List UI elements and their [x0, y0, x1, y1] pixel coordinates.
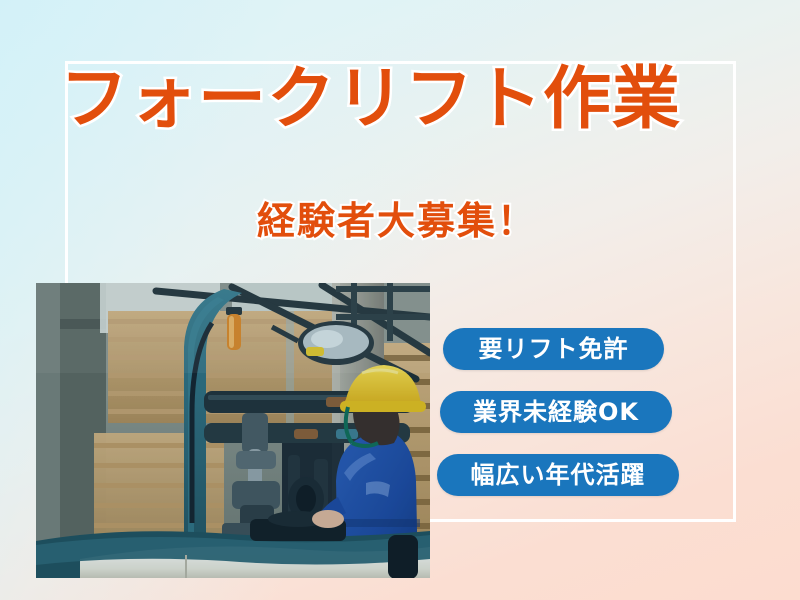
forklift-photo-illustration: [36, 283, 430, 578]
badge-wide-age-range: 幅広い年代活躍: [437, 454, 679, 496]
page-title: フォークリフト作業: [60, 62, 750, 138]
recruitment-banner: フォークリフト作業 経験者大募集！: [0, 0, 800, 600]
subtitle: 経験者大募集！: [62, 190, 732, 245]
badge-no-experience-ok: 業界未経験OK: [440, 391, 672, 433]
badge-license-required: 要リフト免許: [443, 328, 664, 370]
feature-badge-list: 要リフト免許 業界未経験OK 幅広い年代活躍: [437, 328, 687, 517]
forklift-photo: [36, 283, 430, 578]
